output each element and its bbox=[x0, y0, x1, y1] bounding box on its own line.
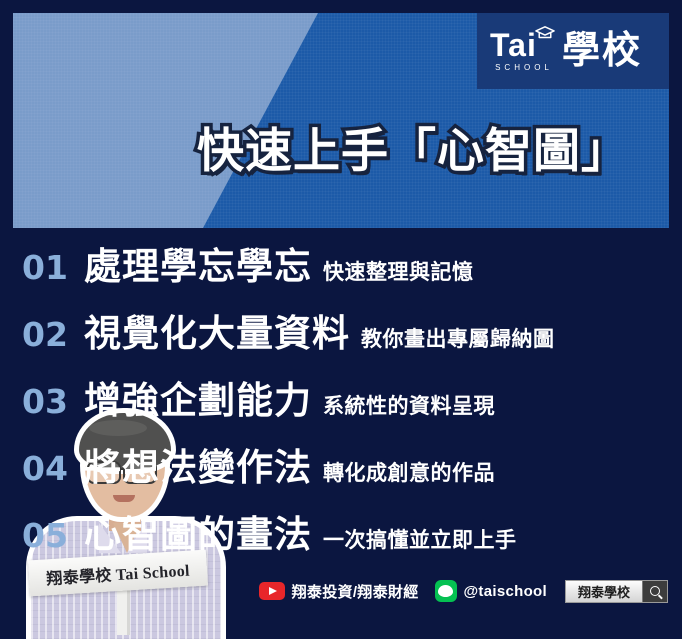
feature-list: 01 處理學忘學忘 快速整理與記憶 02 視覺化大量資料 教你畫出專屬歸納圖 0… bbox=[0, 236, 682, 571]
search-icon bbox=[650, 586, 660, 596]
list-item: 02 視覺化大量資料 教你畫出專屬歸納圖 bbox=[0, 303, 682, 370]
youtube-label: 翔泰投資/翔泰財經 bbox=[292, 581, 419, 602]
poster-root: 翔泰學校 Tai School 快速上手「心智圖」 Tai SCHOOL 學校 … bbox=[0, 0, 682, 617]
logo-school-text: SCHOOL bbox=[490, 63, 556, 72]
line-account[interactable]: @taischool bbox=[435, 580, 547, 602]
list-item-title: 將想法變作法 bbox=[84, 437, 312, 491]
list-item-title: 視覺化大量資料 bbox=[84, 303, 350, 357]
graduation-cap-icon bbox=[535, 26, 555, 40]
footer-bar: 翔泰投資/翔泰財經 @taischool 翔泰學校 bbox=[0, 576, 682, 606]
youtube-channel[interactable]: 翔泰投資/翔泰財經 bbox=[259, 581, 419, 602]
youtube-icon bbox=[259, 582, 285, 600]
logo-mark: Tai SCHOOL bbox=[490, 30, 556, 71]
search-input[interactable]: 翔泰學校 bbox=[566, 581, 642, 602]
list-item-number: 01 bbox=[22, 248, 84, 287]
list-item: 01 處理學忘學忘 快速整理與記憶 bbox=[0, 236, 682, 303]
list-item: 05 心智圖的畫法 一次搞懂並立即上手 bbox=[0, 504, 682, 571]
list-item-number: 03 bbox=[22, 382, 84, 421]
list-item-title: 心智圖的畫法 bbox=[84, 504, 312, 558]
brand-logo[interactable]: Tai SCHOOL 學校 bbox=[477, 13, 669, 89]
list-item-number: 05 bbox=[22, 516, 84, 555]
list-item-subtitle: 快速整理與記憶 bbox=[323, 256, 474, 286]
list-item-subtitle: 一次搞懂並立即上手 bbox=[323, 524, 517, 554]
list-item-title: 處理學忘學忘 bbox=[84, 236, 312, 290]
search-button[interactable] bbox=[642, 581, 667, 602]
logo-cn-text: 學校 bbox=[562, 32, 642, 70]
list-item-title: 增強企劃能力 bbox=[84, 370, 312, 424]
list-item-number: 02 bbox=[22, 315, 84, 354]
search-box[interactable]: 翔泰學校 bbox=[565, 580, 668, 603]
list-item: 03 增強企劃能力 系統性的資料呈現 bbox=[0, 370, 682, 437]
page-title: 快速上手「心智圖」 bbox=[197, 112, 629, 181]
list-item-subtitle: 系統性的資料呈現 bbox=[323, 390, 495, 420]
line-icon bbox=[435, 580, 457, 602]
list-item-subtitle: 教你畫出專屬歸納圖 bbox=[361, 323, 555, 353]
line-label: @taischool bbox=[464, 583, 547, 600]
list-item-subtitle: 轉化成創意的作品 bbox=[323, 457, 495, 487]
list-item-number: 04 bbox=[22, 449, 84, 488]
list-item: 04 將想法變作法 轉化成創意的作品 bbox=[0, 437, 682, 504]
